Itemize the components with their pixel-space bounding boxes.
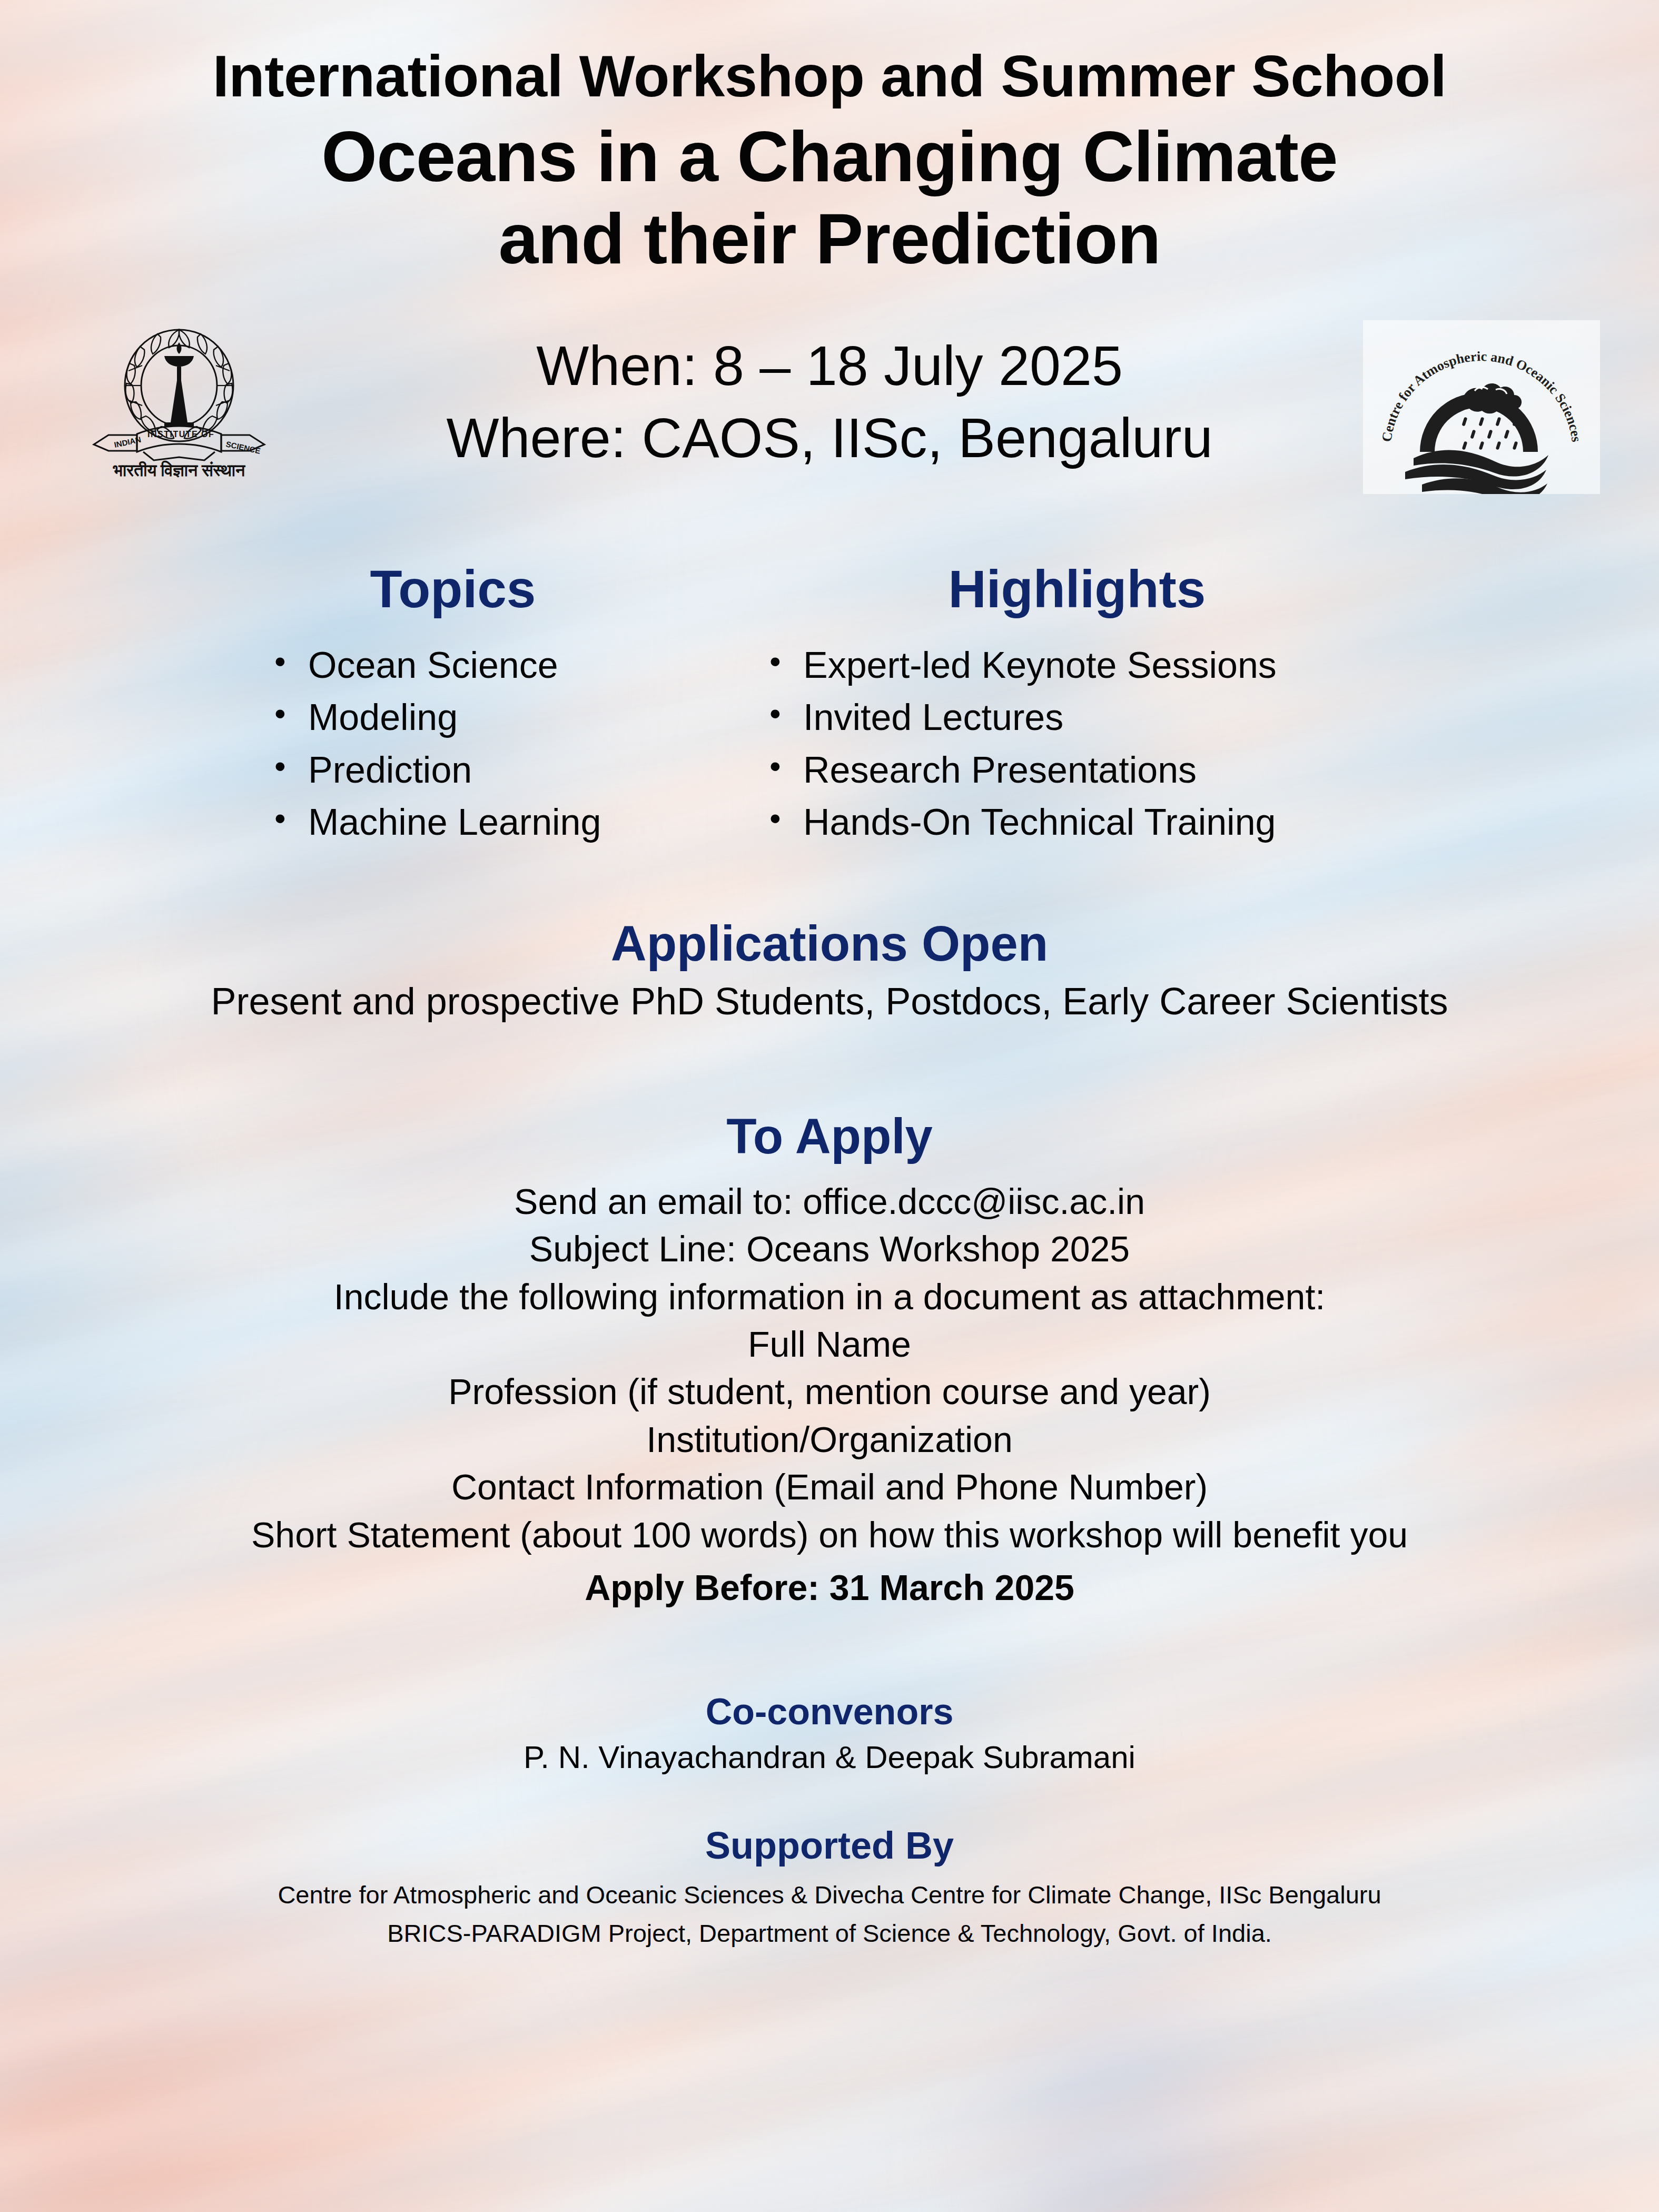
title-block: International Workshop and Summer School… bbox=[0, 0, 1659, 276]
topics-list: •Ocean Science •Modeling •Prediction •Ma… bbox=[255, 639, 656, 849]
list-item: •Machine Learning bbox=[255, 796, 656, 848]
list-item: •Expert-led Keynote Sessions bbox=[750, 639, 1404, 692]
list-item: •Modeling bbox=[255, 692, 656, 744]
bullet-icon: • bbox=[769, 690, 781, 737]
apply-field-short-statement: Short Statement (about 100 words) on how… bbox=[0, 1511, 1659, 1558]
supported-by-list: Centre for Atmospheric and Oceanic Scien… bbox=[0, 1875, 1659, 1953]
bullet-icon: • bbox=[274, 638, 286, 685]
apply-field-institution: Institution/Organization bbox=[0, 1416, 1659, 1463]
topics-item-label: Modeling bbox=[308, 697, 458, 738]
bullet-icon: • bbox=[274, 795, 286, 842]
svg-text:INSTITUTE OF: INSTITUTE OF bbox=[147, 430, 214, 439]
topics-heading: Topics bbox=[255, 559, 656, 619]
svg-text:SCIENCE: SCIENCE bbox=[225, 439, 261, 455]
list-item: •Research Presentations bbox=[750, 744, 1404, 796]
applications-eligibility: Present and prospective PhD Students, Po… bbox=[0, 980, 1659, 1023]
bullet-icon: • bbox=[769, 638, 781, 685]
co-convenors-section: Co-convenors P. N. Vinayachandran & Deep… bbox=[0, 1691, 1659, 1775]
bullet-icon: • bbox=[274, 690, 286, 737]
list-item: •Hands-On Technical Training bbox=[750, 796, 1404, 848]
co-convenors-heading: Co-convenors bbox=[0, 1691, 1659, 1733]
applications-open-section: Applications Open Present and prospectiv… bbox=[0, 915, 1659, 1023]
topics-highlights-columns: Topics •Ocean Science •Modeling •Predict… bbox=[0, 559, 1659, 849]
highlights-list: •Expert-led Keynote Sessions •Invited Le… bbox=[750, 639, 1404, 849]
list-item: •Prediction bbox=[255, 744, 656, 796]
apply-field-profession: Profession (if student, mention course a… bbox=[0, 1368, 1659, 1415]
supporter-line-2: BRICS-PARADIGM Project, Department of Sc… bbox=[0, 1914, 1659, 1952]
highlights-item-label: Research Presentations bbox=[803, 749, 1197, 791]
apply-instruction-subject: Subject Line: Oceans Workshop 2025 bbox=[0, 1225, 1659, 1272]
applications-open-heading: Applications Open bbox=[0, 915, 1659, 972]
to-apply-heading: To Apply bbox=[0, 1108, 1659, 1165]
apply-field-full-name: Full Name bbox=[0, 1320, 1659, 1368]
bullet-icon: • bbox=[274, 743, 286, 789]
highlights-item-label: Invited Lectures bbox=[803, 697, 1063, 738]
apply-instruction-email: Send an email to: office.dccc@iisc.ac.in bbox=[0, 1178, 1659, 1225]
supported-by-heading: Supported By bbox=[0, 1824, 1659, 1867]
highlights-heading: Highlights bbox=[750, 559, 1404, 619]
poster-title-line-2: and their Prediction bbox=[0, 201, 1659, 276]
caos-logo: Centre for Atmospheric and Oceanic Scien… bbox=[1363, 320, 1600, 494]
poster-canvas: INDIAN INSTITUTE OF SCIENCE भारतीय विज्ञ… bbox=[0, 0, 1659, 2212]
bullet-icon: • bbox=[769, 795, 781, 842]
apply-deadline: Apply Before: 31 March 2025 bbox=[0, 1564, 1659, 1611]
iisc-logo: INDIAN INSTITUTE OF SCIENCE भारतीय विज्ञ… bbox=[84, 322, 274, 480]
list-item: •Invited Lectures bbox=[750, 692, 1404, 744]
highlights-item-label: Expert-led Keynote Sessions bbox=[803, 645, 1277, 686]
svg-text:भारतीय विज्ञान संस्थान: भारतीय विज्ञान संस्थान bbox=[113, 460, 246, 480]
apply-field-contact: Contact Information (Email and Phone Num… bbox=[0, 1463, 1659, 1510]
co-convenors-names: P. N. Vinayachandran & Deepak Subramani bbox=[0, 1739, 1659, 1775]
supported-by-section: Supported By Centre for Atmospheric and … bbox=[0, 1824, 1659, 1984]
to-apply-section: To Apply Send an email to: office.dccc@i… bbox=[0, 1108, 1659, 1612]
highlights-column: Highlights •Expert-led Keynote Sessions … bbox=[750, 559, 1404, 849]
poster-title-line-1: Oceans in a Changing Climate bbox=[0, 119, 1659, 194]
topics-item-label: Ocean Science bbox=[308, 645, 558, 686]
to-apply-instructions: Send an email to: office.dccc@iisc.ac.in… bbox=[0, 1178, 1659, 1612]
topics-item-label: Machine Learning bbox=[308, 802, 601, 843]
apply-instruction-attachment: Include the following information in a d… bbox=[0, 1273, 1659, 1320]
topics-item-label: Prediction bbox=[308, 749, 472, 791]
list-item: •Ocean Science bbox=[255, 639, 656, 692]
topics-column: Topics •Ocean Science •Modeling •Predict… bbox=[255, 559, 656, 849]
supporter-line-1: Centre for Atmospheric and Oceanic Scien… bbox=[0, 1875, 1659, 1914]
poster-subtitle-line: International Workshop and Summer School bbox=[0, 45, 1659, 107]
bullet-icon: • bbox=[769, 743, 781, 789]
highlights-item-label: Hands-On Technical Training bbox=[803, 802, 1276, 843]
